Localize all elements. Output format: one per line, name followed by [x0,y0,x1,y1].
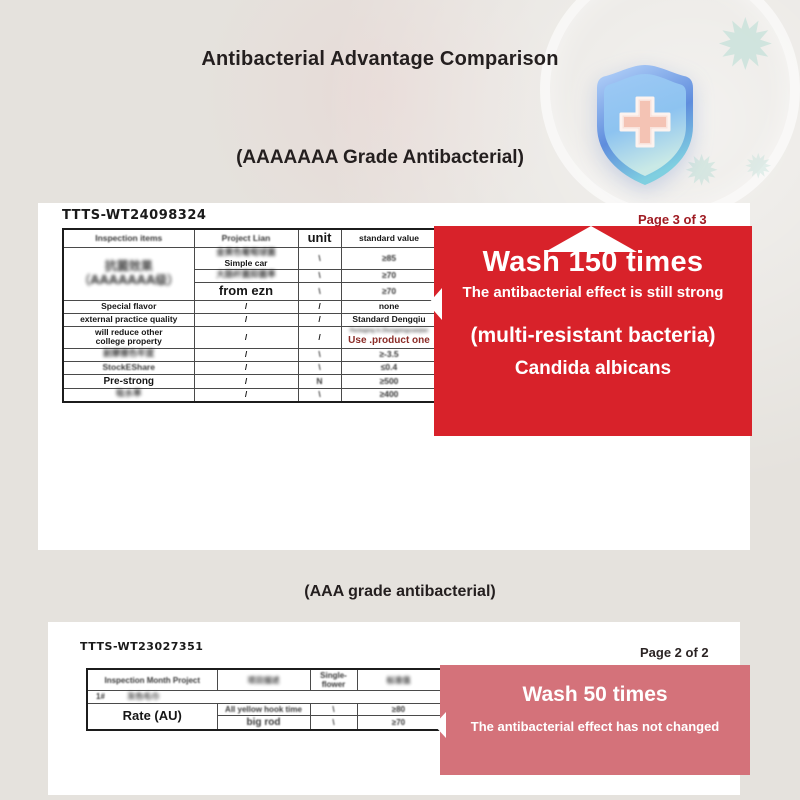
cell-standard: ≥-3.5 [341,349,437,362]
col-header-standard-value: standard value [341,229,437,247]
cell-standard: ≤0.4 [341,362,437,375]
cell-project-latin: Simple car [197,259,296,269]
cell-standard: ≥500 [341,374,437,389]
cell-unit: \ [298,389,341,402]
cell-standard: ≥70 [357,715,440,730]
cell-project: / [194,313,298,326]
col-header-project-desc: 项目描述 [217,669,310,691]
callout-candida: Candida albicans [434,358,752,380]
note-label: 1# [96,692,105,701]
cell-unit: \ [310,715,357,730]
cell-standard-main: Use .product one [344,335,435,347]
cell-standard: Standard Dengqiu [341,313,437,326]
page-label-bottom: Page 2 of 2 [640,645,709,660]
cell-unit: / [298,326,341,349]
cell-unit: \ [310,703,357,715]
cell-unit: \ [298,362,341,375]
cell-standard: none [341,301,437,314]
notch-decoration [545,226,637,252]
subtitle-bottom: (AAA grade antibacterial) [0,583,800,601]
cell-standard: Packaging in Zhongpingyuanjian Use .prod… [341,326,437,349]
cell-unit: / [298,313,341,326]
cell-project: / [194,326,298,349]
cell-item: will reduce other college property [63,326,194,349]
poster-root: ✹ ✹ ✹ Antibacterial Advantage Comparison… [0,0,800,800]
cell-item: 耐摩擦色牢度 [63,349,194,362]
cell-project: / [194,389,298,402]
cell-standard: ≥400 [341,389,437,402]
note-text: 灰色毛巾 [127,692,159,701]
document-code: TTTS-WT23027351 [80,640,203,653]
cell-item: StockEShare [63,362,194,375]
col-header-standard: 标准值 [357,669,440,691]
page-label-top: Page 3 of 3 [638,212,707,227]
cell-standard: ≥70 [341,283,437,301]
callout-wash-150: Wash 150 times The antibacterial effect … [434,226,752,436]
callout-subline: The antibacterial effect has not changed [440,719,750,734]
cell-item: 吸水率 [63,389,194,402]
cell-unit: \ [298,283,341,301]
cell-unit: \ [298,270,341,283]
cell-standard-note: Packaging in Zhongpingyuanjian [344,329,435,335]
cell-project-cjk: 金黄色葡萄球菌 [197,249,296,259]
cell-unit: N [298,374,341,389]
col-header-project-lian: Project Lian [194,229,298,247]
cell-item: external practice quality [63,313,194,326]
cell-standard: ≥70 [341,270,437,283]
cell-project: / [194,349,298,362]
cell-item-antibacterial-grade: 抗菌效果 （AAAAAAA级） [63,247,194,300]
cell-project: 大肠杆菌抑菌率 [194,270,298,283]
callout-headline: Wash 50 times [440,683,750,707]
cell-text: 抗菌效果 （AAAAAAA级） [78,259,179,287]
callout-subline: The antibacterial effect is still strong [434,284,752,301]
col-header-inspection-items: Inspection items [63,229,194,247]
col-header-single-flower: Single-flower [310,669,357,691]
cell-unit: \ [298,349,341,362]
cell-project: 金黄色葡萄球菌 Simple car [194,247,298,270]
cell-item: Pre-strong [63,374,194,389]
notch-decoration [428,288,442,320]
cell-project-from-ezn: from ezn [194,283,298,301]
cell-unit: / [298,301,341,314]
shield-plus-icon [592,62,698,188]
cell-item-rate-au: Rate (AU) [87,703,217,730]
cell-standard: ≥80 [357,703,440,715]
cell-project: All yellow hook time [217,703,310,715]
cell-project: big rod [217,715,310,730]
callout-wash-50: Wash 50 times The antibacterial effect h… [440,665,750,775]
cell-item: Special flavor [63,301,194,314]
callout-bacteria: (multi-resistant bacteria) [434,324,752,348]
col-header-unit: unit [298,229,341,247]
cell-project: / [194,301,298,314]
notch-decoration [536,622,616,648]
cell-standard: ≥85 [341,247,437,270]
cell-unit: \ [298,247,341,270]
notch-decoration [434,712,446,738]
cell-project: / [194,362,298,375]
cell-project: / [194,374,298,389]
col-header-inspection-month-project: Inspection Month Project [87,669,217,691]
document-code: TTTS-WT24098324 [62,208,206,223]
